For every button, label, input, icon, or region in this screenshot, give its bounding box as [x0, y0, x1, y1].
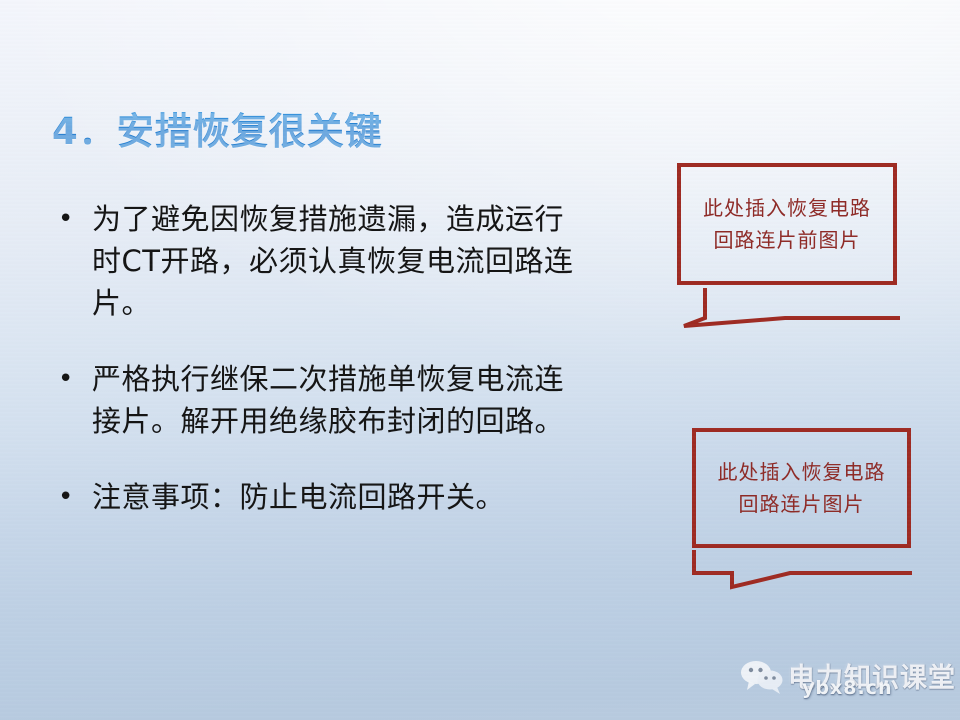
- callout-line: 回路连片图片: [739, 488, 865, 520]
- slide-canvas: 4．安措恢复很关键 • 为了避免因恢复措施遗漏，造成运行时CT开路，必须认真恢复…: [0, 0, 960, 720]
- watermark-url: ybx8.cn: [802, 677, 892, 699]
- page-title: 4．安措恢复很关键: [52, 101, 383, 155]
- bullet-text: 为了避免因恢复措施遗漏，造成运行时CT开路，必须认真恢复电流回路连片。: [92, 198, 580, 324]
- bullet-text: 注意事项：防止电流回路开关。: [92, 476, 580, 518]
- bullet-list: • 为了避免因恢复措施遗漏，造成运行时CT开路，必须认真恢复电流回路连片。 • …: [50, 198, 580, 552]
- callout-tail-icon: [686, 541, 926, 589]
- callout-restore-before: 此处插入恢复电路 回路连片前图片: [672, 158, 912, 328]
- callout-line: 回路连片前图片: [714, 224, 861, 256]
- callout-body: 此处插入恢复电路 回路连片前图片: [677, 163, 897, 285]
- callout-line: 此处插入恢复电路: [718, 456, 886, 488]
- list-item: • 注意事项：防止电流回路开关。: [50, 476, 580, 518]
- bullet-marker-icon: •: [50, 198, 92, 240]
- bullet-text: 严格执行继保二次措施单恢复电流连接片。解开用绝缘胶布封闭的回路。: [92, 358, 580, 442]
- bullet-marker-icon: •: [50, 476, 92, 518]
- wechat-icon: [740, 659, 784, 695]
- bullet-marker-icon: •: [50, 358, 92, 400]
- callout-line: 此处插入恢复电路: [703, 192, 871, 224]
- callout-tail-icon: [672, 278, 912, 328]
- callout-restore-after: 此处插入恢复电路 回路连片图片: [686, 423, 926, 588]
- list-item: • 严格执行继保二次措施单恢复电流连接片。解开用绝缘胶布封闭的回路。: [50, 358, 580, 442]
- watermark: 电力知识课堂 ybx8.cn: [740, 655, 950, 707]
- list-item: • 为了避免因恢复措施遗漏，造成运行时CT开路，必须认真恢复电流回路连片。: [50, 198, 580, 324]
- callout-body: 此处插入恢复电路 回路连片图片: [692, 428, 911, 548]
